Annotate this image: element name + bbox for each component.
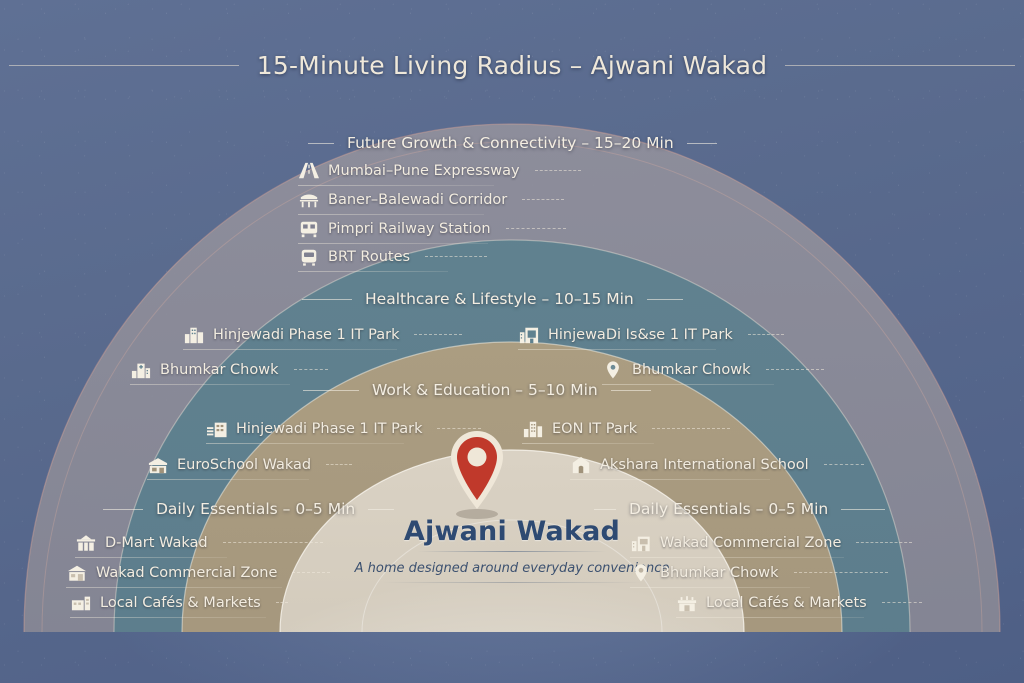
ring-header-future-growth: Future Growth & Connectivity – 15–20 Min bbox=[308, 134, 717, 152]
poi-leader bbox=[326, 464, 352, 466]
poi-leader bbox=[292, 572, 330, 574]
poi-underline bbox=[522, 443, 654, 444]
poi-leader bbox=[276, 602, 288, 604]
poi-item[interactable]: Wakad Commercial Zone bbox=[630, 533, 912, 553]
poi-leader bbox=[294, 369, 328, 371]
tower-buildings-icon bbox=[522, 419, 544, 439]
ring-header-daily-essentials-left: Daily Essentials – 0–5 Min bbox=[103, 500, 394, 518]
poi-leader bbox=[824, 464, 864, 466]
office-buildings-icon bbox=[183, 325, 205, 345]
poi-item[interactable]: Bhumkar Chowk bbox=[130, 360, 328, 380]
ring-header-label: Future Growth & Connectivity – 15–20 Min bbox=[347, 134, 674, 152]
ring-header-rule-left bbox=[303, 390, 359, 391]
cafe-icon bbox=[676, 593, 698, 613]
ring-header-rule-right bbox=[368, 509, 394, 510]
poi-leader bbox=[414, 334, 462, 336]
poi-leader bbox=[223, 542, 323, 544]
flyover-icon bbox=[298, 190, 320, 210]
poi-underline bbox=[183, 349, 397, 350]
poi-item[interactable]: EON IT Park bbox=[522, 419, 730, 439]
ring-header-rule-right bbox=[687, 143, 717, 144]
poi-label: Bhumkar Chowk bbox=[632, 362, 751, 378]
poi-item[interactable]: Bhumkar Chowk bbox=[630, 563, 888, 583]
poi-leader bbox=[882, 602, 922, 604]
commercial-icon bbox=[630, 533, 652, 553]
poi-underline bbox=[66, 587, 282, 588]
project-tagline-rule bbox=[382, 582, 642, 583]
poi-label: Pimpri Railway Station bbox=[328, 221, 491, 237]
poi-leader bbox=[766, 369, 824, 371]
map-pin-small-icon bbox=[630, 563, 652, 583]
poi-item[interactable]: BRT Routes bbox=[298, 247, 487, 267]
ring-header-work-education: Work & Education – 5–10 Min bbox=[303, 381, 651, 399]
school-icon bbox=[147, 455, 169, 475]
ring-header-rule-right bbox=[611, 390, 651, 391]
poi-item[interactable]: Local Cafés & Markets bbox=[676, 593, 922, 613]
ring-header-rule-left bbox=[594, 509, 616, 510]
poi-leader bbox=[506, 228, 566, 230]
ring-header-rule-left bbox=[302, 299, 352, 300]
train-icon bbox=[298, 219, 320, 239]
poi-label: EON IT Park bbox=[552, 421, 637, 437]
poi-underline bbox=[75, 557, 227, 558]
poi-item[interactable]: Hinjewadi Phase 1 IT Park bbox=[183, 325, 462, 345]
ring-header-healthcare-lifestyle: Healthcare & Lifestyle – 10–15 Min bbox=[302, 290, 683, 308]
poi-label: Local Cafés & Markets bbox=[706, 595, 867, 611]
ring-header-label: Healthcare & Lifestyle – 10–15 Min bbox=[365, 290, 634, 308]
poi-underline bbox=[130, 384, 290, 385]
poi-label: Bhumkar Chowk bbox=[660, 565, 779, 581]
poi-item[interactable]: Baner–Balewadi Corridor bbox=[298, 190, 564, 210]
hospital-icon bbox=[130, 360, 152, 380]
poi-label: Mumbai–Pune Expressway bbox=[328, 163, 520, 179]
poi-item[interactable]: Mumbai–Pune Expressway bbox=[298, 161, 581, 181]
poi-underline bbox=[630, 557, 844, 558]
poi-item[interactable]: Akshara International School bbox=[570, 455, 864, 475]
poi-leader bbox=[856, 542, 912, 544]
poi-underline bbox=[298, 243, 488, 244]
poi-item[interactable]: EuroSchool Wakad bbox=[147, 455, 352, 475]
poi-leader bbox=[652, 428, 730, 430]
poi-underline bbox=[298, 271, 448, 272]
poi-label: Wakad Commercial Zone bbox=[96, 565, 277, 581]
poi-leader bbox=[748, 334, 784, 336]
store-icon bbox=[75, 533, 97, 553]
poi-item[interactable]: HinjewaDi Is&se 1 IT Park bbox=[518, 325, 784, 345]
market-icon bbox=[70, 593, 92, 613]
ring-header-rule-left bbox=[103, 509, 143, 510]
poi-label: Local Cafés & Markets bbox=[100, 595, 261, 611]
poi-underline bbox=[298, 185, 494, 186]
poi-leader bbox=[535, 170, 581, 172]
poi-label: Baner–Balewadi Corridor bbox=[328, 192, 507, 208]
hospital-block-icon bbox=[518, 325, 540, 345]
ring-header-label: Work & Education – 5–10 Min bbox=[372, 381, 598, 399]
poi-underline bbox=[676, 617, 864, 618]
poi-item[interactable]: D-Mart Wakad bbox=[75, 533, 323, 553]
poi-label: Hinjewadi Phase 1 IT Park bbox=[236, 421, 422, 437]
poi-leader bbox=[794, 572, 888, 574]
shop-front-icon bbox=[66, 563, 88, 583]
ring-header-label: Daily Essentials – 0–5 Min bbox=[629, 500, 828, 518]
poi-underline bbox=[518, 349, 716, 350]
ring-header-label: Daily Essentials – 0–5 Min bbox=[156, 500, 355, 518]
poi-item[interactable]: Wakad Commercial Zone bbox=[66, 563, 330, 583]
poi-underline bbox=[206, 443, 404, 444]
poi-leader bbox=[522, 199, 564, 201]
poi-label: EuroSchool Wakad bbox=[177, 457, 311, 473]
poi-label: Bhumkar Chowk bbox=[160, 362, 279, 378]
poi-item[interactable]: Local Cafés & Markets bbox=[70, 593, 288, 613]
poi-label: D-Mart Wakad bbox=[105, 535, 208, 551]
poi-underline bbox=[298, 214, 484, 215]
office-park-icon bbox=[206, 419, 228, 439]
ring-header-rule-left bbox=[308, 143, 334, 144]
ring-header-rule-right bbox=[841, 509, 885, 510]
poi-underline bbox=[147, 479, 309, 480]
map-pin-icon bbox=[441, 428, 513, 520]
poi-label: Wakad Commercial Zone bbox=[660, 535, 841, 551]
school-house-icon bbox=[570, 455, 592, 475]
poi-underline bbox=[70, 617, 266, 618]
poi-underline bbox=[630, 587, 810, 588]
ring-header-daily-essentials-right: Daily Essentials – 0–5 Min bbox=[594, 500, 885, 518]
poi-label: Akshara International School bbox=[600, 457, 809, 473]
map-pin-small-icon bbox=[602, 360, 624, 380]
poi-label: HinjewaDi Is&se 1 IT Park bbox=[548, 327, 733, 343]
poi-item[interactable]: Pimpri Railway Station bbox=[298, 219, 566, 239]
poi-label: Hinjewadi Phase 1 IT Park bbox=[213, 327, 399, 343]
expressway-icon bbox=[298, 161, 320, 181]
bus-icon bbox=[298, 247, 320, 267]
poi-underline bbox=[570, 479, 770, 480]
ring-header-rule-right bbox=[647, 299, 683, 300]
project-name-rule bbox=[417, 551, 607, 552]
poi-label: BRT Routes bbox=[328, 249, 410, 265]
poi-leader bbox=[425, 256, 487, 258]
poi-item[interactable]: Bhumkar Chowk bbox=[602, 360, 824, 380]
